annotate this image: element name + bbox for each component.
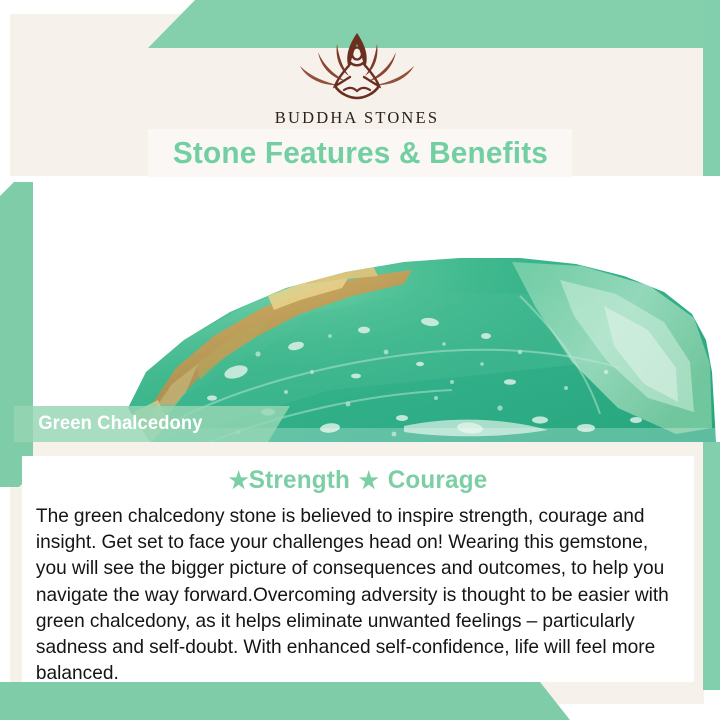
- gemstone-illustration: [0, 176, 720, 442]
- infographic-page: BUDDHA STONES Stone Features & Benefits: [0, 0, 720, 720]
- content-panel: ★Strength★Courage The green chalcedony s…: [22, 456, 694, 682]
- lotus-meditation-icon: [282, 28, 432, 106]
- decor-band-bottom: [0, 682, 600, 720]
- brand-wordmark: BUDDHA STONES: [275, 108, 439, 128]
- star-icon-1: ★: [229, 467, 249, 493]
- keyword-strength: Strength: [249, 466, 350, 494]
- page-title: Stone Features & Benefits: [172, 135, 547, 171]
- title-plaque: Stone Features & Benefits: [148, 129, 572, 177]
- star-icon-2: ★: [359, 467, 379, 493]
- body-paragraph: The green chalcedony stone is believed t…: [30, 503, 676, 686]
- gemstone-photo: [0, 176, 720, 442]
- keyword-courage: Courage: [388, 466, 488, 494]
- stone-name-ribbon: Green Chalcedony: [14, 406, 290, 442]
- stone-name-label: Green Chalcedony: [17, 413, 203, 435]
- keyword-line: ★Strength★Courage: [40, 466, 676, 495]
